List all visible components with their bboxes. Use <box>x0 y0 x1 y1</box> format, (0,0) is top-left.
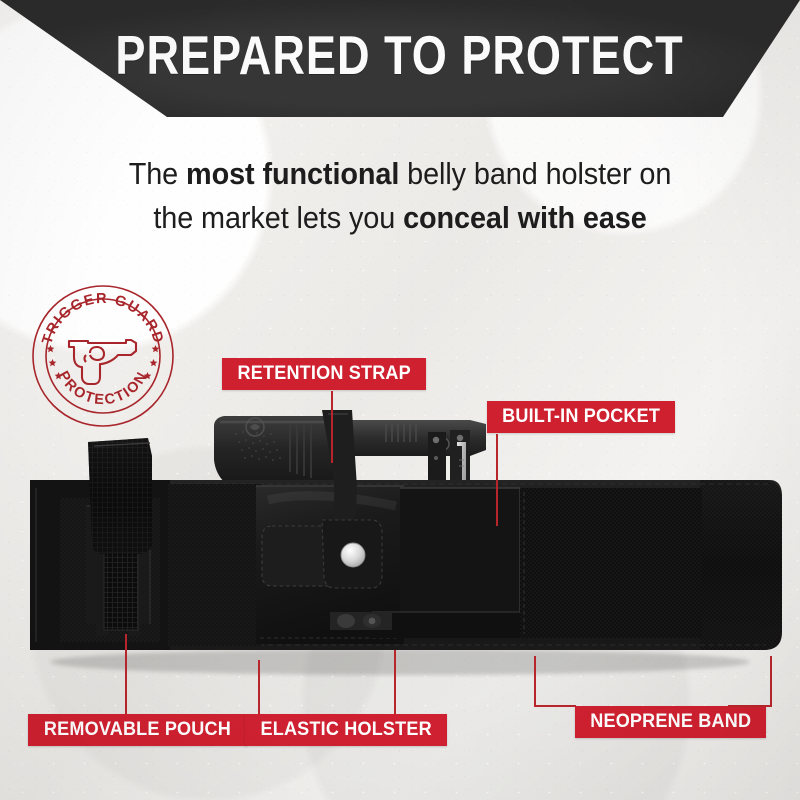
holster-left-texture <box>168 484 262 646</box>
page-title: PREPARED TO PROTECT <box>116 28 684 83</box>
subtitle-text-1b: belly band holster on <box>399 156 671 191</box>
callout-neoprene-band-label: NEOPRENE BAND <box>590 712 751 731</box>
pistol-icon <box>69 340 136 384</box>
holster-flap <box>372 612 520 638</box>
callout-removable-pouch-label: REMOVABLE POUCH <box>44 720 231 739</box>
pouch-strap-texture <box>88 438 152 554</box>
subtitle-line-1: The most functional belly band holster o… <box>28 152 772 196</box>
built-in-pocket <box>400 488 520 630</box>
badge-top-text: TRIGGER GUARD <box>39 291 166 346</box>
hardware-center <box>369 618 376 625</box>
holster-hardware <box>330 612 392 630</box>
callout-removable-pouch[interactable]: REMOVABLE POUCH <box>28 714 247 746</box>
leader-line-retention-strap <box>331 391 333 463</box>
subtitle-line-2: the market lets you conceal with ease <box>28 196 772 240</box>
subtitle: The most functional belly band holster o… <box>0 152 800 240</box>
callout-neoprene-band[interactable]: NEOPRENE BAND <box>575 706 766 738</box>
callout-built-in-pocket-label: BUILT-IN POCKET <box>502 407 660 426</box>
subtitle-emphasis-2: conceal with ease <box>403 200 647 235</box>
product-photo <box>0 380 800 680</box>
leader-line-built-in-pocket <box>496 434 498 526</box>
hardware-ring <box>337 614 355 628</box>
callout-built-in-pocket[interactable]: BUILT-IN POCKET <box>487 401 675 433</box>
leader-line-neoprene-band-right <box>770 656 772 706</box>
leader-line-elastic-holster-2 <box>394 650 396 714</box>
multitool-pivot-b <box>457 435 463 441</box>
multitool-rivet <box>434 456 438 460</box>
product-shadow <box>50 649 750 675</box>
belly-band-holster-illustration <box>0 380 800 680</box>
leader-line-neoprene-band-horizontal <box>534 705 576 707</box>
leader-line-elastic-holster <box>258 660 260 714</box>
callout-retention-strap-label: RETENTION STRAP <box>238 364 411 383</box>
multitool-pivot-a <box>433 437 439 443</box>
callout-elastic-holster-label: ELASTIC HOLSTER <box>261 720 432 739</box>
band-loop-field-texture <box>520 488 702 638</box>
subtitle-text-2a: the market lets you <box>153 200 403 235</box>
callout-retention-strap[interactable]: RETENTION STRAP <box>222 358 426 390</box>
leader-line-neoprene-band-horizontal-2 <box>728 705 772 707</box>
leader-line-neoprene-band-vertical <box>534 656 536 706</box>
subtitle-text-1a: The <box>129 156 186 191</box>
header-banner: PREPARED TO PROTECT <box>0 0 800 117</box>
leader-line-removable-pouch <box>125 634 127 714</box>
infographic-canvas: PREPARED TO PROTECT The most functional … <box>0 0 800 800</box>
subtitle-emphasis-1: most functional <box>186 156 399 191</box>
callout-elastic-holster[interactable]: ELASTIC HOLSTER <box>245 714 447 746</box>
band-velcro-texture <box>700 480 782 650</box>
pistol-grip <box>214 416 342 490</box>
removable-pouch <box>60 438 160 642</box>
